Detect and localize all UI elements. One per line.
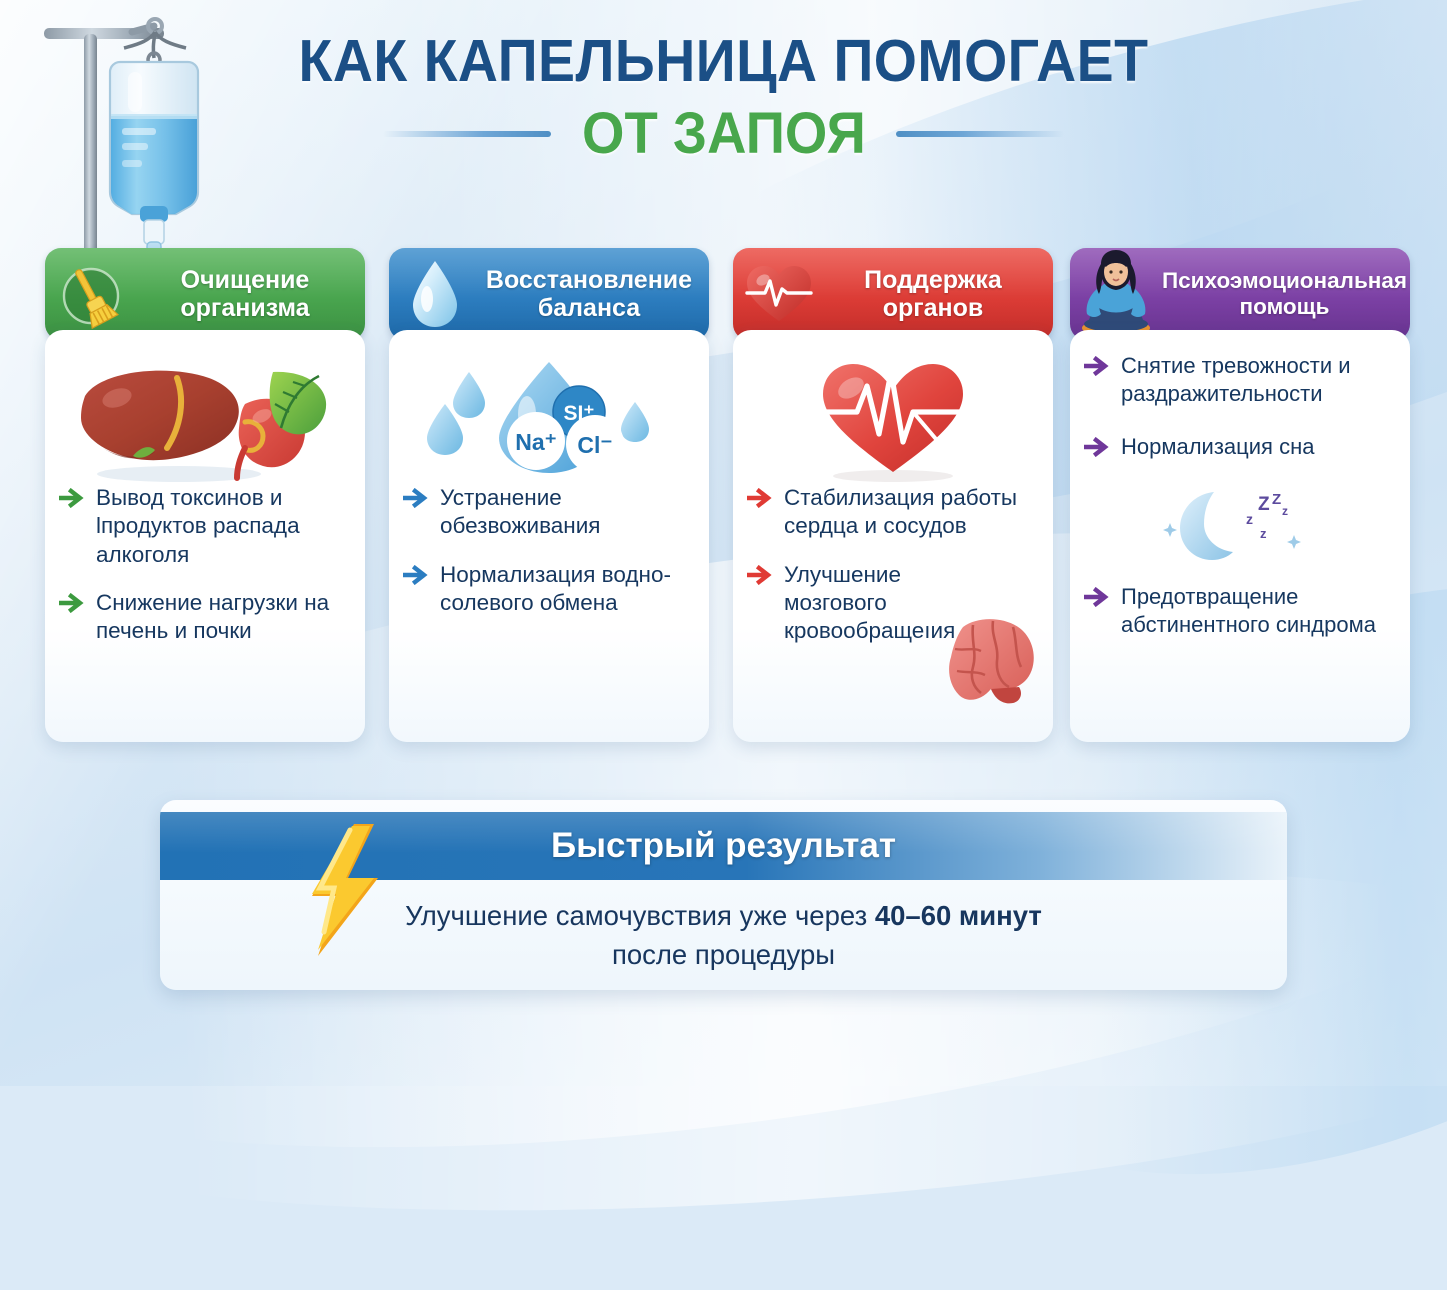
svg-text:z: z — [1260, 526, 1267, 541]
list-item: Стабилизация работы сердца и сосудов — [747, 484, 1039, 541]
list-item-label: Устранение обезвоживания — [440, 484, 695, 541]
banner-text: Улучшение самочувствия уже через 40–60 м… — [160, 896, 1287, 974]
card-organs[interactable]: Поддержка органов — [733, 248, 1053, 740]
arrow-right-icon — [59, 593, 87, 618]
meditating-woman-icon — [1070, 248, 1162, 340]
svg-text:Na⁺: Na⁺ — [515, 429, 557, 455]
list-item: Устранение обезвоживания — [403, 484, 695, 541]
card-body-balance: SI⁺ Na⁺ Cl⁻ Устранение обезвоживания — [389, 330, 709, 742]
list-item-label: Снятие тревожности и раздражительности — [1121, 352, 1396, 407]
arrow-right-icon — [1084, 437, 1112, 462]
card-title-balance: Восстановление баланса — [481, 266, 709, 323]
card-title-cleansing: Очищение организма — [137, 266, 365, 323]
title-rule-left — [383, 131, 551, 137]
arrow-right-icon — [1084, 356, 1112, 381]
arrow-right-icon — [747, 565, 775, 590]
fast-result-banner: Быстрый результат Улучшение самочувствия… — [160, 800, 1287, 990]
list-item-label: Предотвращение абстинентного синдрома — [1121, 583, 1396, 638]
title-rule-right — [896, 131, 1064, 137]
list-item-label: Нормализация водно-солевого обмена — [440, 561, 695, 618]
page-title: КАК КАПЕЛЬНИЦА ПОМОГАЕТ ОТ ЗАПОЯ — [0, 32, 1447, 163]
electrolyte-droplets-illustration: SI⁺ Na⁺ Cl⁻ — [403, 356, 695, 484]
list-item-label: Улучшение мозгового кровообращеıия — [784, 561, 944, 646]
list-item: Предотвращение абстинентного синдрома — [1084, 583, 1396, 638]
arrow-right-icon — [403, 488, 431, 513]
benefit-list-psychoemotional: Снятие тревожности и раздражительности Н… — [1084, 352, 1396, 639]
card-body-organs: Стабилизация работы сердца и сосудов Улу… — [733, 330, 1053, 742]
brain-illustration — [933, 613, 1043, 714]
heart-ekg-illustration — [747, 356, 1039, 484]
svg-text:z: z — [1246, 511, 1253, 527]
card-cleansing[interactable]: Очищение организма — [45, 248, 365, 740]
arrow-right-icon — [59, 488, 87, 513]
arrow-right-icon — [1084, 587, 1112, 612]
banner-text-before: Улучшение самочувствия уже через — [405, 900, 875, 931]
card-balance[interactable]: Восстановление баланса — [389, 248, 709, 740]
heart-pulse-icon — [733, 248, 825, 340]
benefit-list-organs: Стабилизация работы сердца и сосудов Улу… — [747, 484, 1039, 646]
list-item: Нормализация сна — [1084, 433, 1396, 462]
svg-text:z: z — [1282, 504, 1288, 518]
card-body-psychoemotional: Снятие тревожности и раздражительности Н… — [1070, 330, 1410, 742]
card-title-organs: Поддержка органов — [825, 266, 1053, 323]
benefit-list-balance: Устранение обезвоживания Нормализация во… — [403, 484, 695, 617]
list-item: Снятие тревожности и раздражительности — [1084, 352, 1396, 407]
arrow-right-icon — [747, 488, 775, 513]
list-item: Нормализация водно-солевого обмена — [403, 561, 695, 618]
list-item: Снижение нагрузки на печень и почки — [59, 589, 351, 646]
list-item-label: Вывод токсинов и lпродуктов распада алко… — [96, 484, 351, 569]
card-body-cleansing: Вывод токсинов и lпродуктов распада алко… — [45, 330, 365, 742]
title-line-2: ОТ ЗАПОЯ — [582, 105, 866, 163]
benefit-list-cleansing: Вывод токсинов и lпродуктов распада алко… — [59, 484, 351, 646]
card-header-cleansing: Очищение организма — [45, 248, 365, 340]
svg-text:Z: Z — [1272, 491, 1281, 508]
card-title-psychoemotional: Психоэмоциональная помощь — [1162, 268, 1410, 319]
card-header-balance: Восстановление баланса — [389, 248, 709, 340]
list-item: Улучшение мозгового кровообращеıия — [747, 561, 1039, 646]
svg-text:Z: Z — [1258, 494, 1270, 515]
arrow-right-icon — [403, 565, 431, 590]
card-psychoemotional[interactable]: Психоэмоциональная помощь Снятие тревожн… — [1070, 248, 1410, 740]
list-item-label: Снижение нагрузки на печень и почки — [96, 589, 351, 646]
liver-kidney-leaf-illustration — [59, 356, 351, 484]
title-line-1: КАК КАПЕЛЬНИЦА ПОМОГАЕТ — [43, 32, 1403, 91]
broom-icon — [45, 248, 137, 340]
water-drop-icon — [389, 248, 481, 340]
list-item-label: Нормализация сна — [1121, 433, 1314, 461]
banner-highlight: 40–60 минут — [875, 900, 1042, 931]
svg-text:Cl⁻: Cl⁻ — [577, 432, 612, 458]
list-item: Вывод токсинов и lпродуктов распада алко… — [59, 484, 351, 569]
banner-text-after: после процедуры — [612, 939, 835, 970]
sleeping-moon-zzz-illustration: Z Z z z z — [1084, 482, 1396, 569]
list-item-label: Стабилизация работы сердца и сосудов — [784, 484, 1039, 541]
card-header-organs: Поддержка органов — [733, 248, 1053, 340]
infographic-canvas: КАК КАПЕЛЬНИЦА ПОМОГАЕТ ОТ ЗАПОЯ — [0, 0, 1447, 1086]
card-header-psychoemotional: Психоэмоциональная помощь — [1070, 248, 1410, 340]
